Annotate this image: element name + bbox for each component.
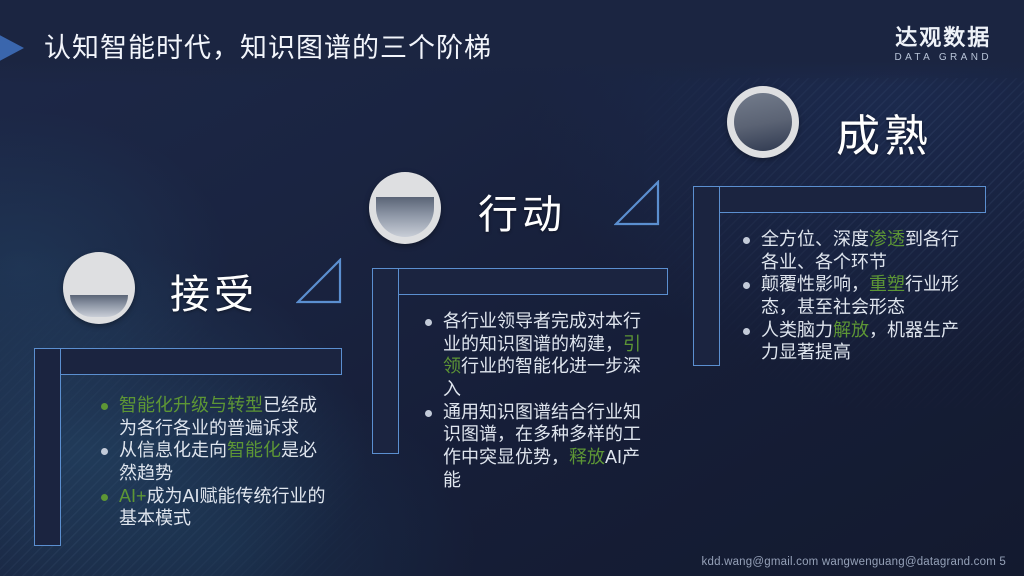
brand-logo-cn: 达观数据 — [894, 26, 992, 49]
bullet-text: 成为AI赋能传统行业的基本模式 — [119, 486, 326, 529]
stage-2-label: 行动 — [478, 182, 566, 240]
footer-contact: kdd.wang@gmail.com wangwenguang@datagran… — [702, 556, 1006, 568]
stage-3-bullet-list: 全方位、深度渗透到各行各业、各个环节颠覆性影响，重塑行业形态，甚至社会形态人类脑… — [742, 228, 970, 364]
stage-1-circle — [63, 252, 135, 324]
bullet-highlight-text: 智能化升级与转型 — [119, 395, 263, 415]
bullet-highlight-text: 解放 — [833, 320, 869, 340]
bullet-item: 各行业领导者完成对本行业的知识图谱的构建，引领行业的智能化进一步深入 — [424, 310, 652, 401]
bullet-item: AI+成为AI赋能传统行业的基本模式 — [100, 485, 332, 530]
stage-1-label: 接受 — [170, 262, 258, 320]
bullet-item: 智能化升级与转型已经成为各行各业的普遍诉求 — [100, 394, 332, 439]
bullet-item: 颠覆性影响，重塑行业形态，甚至社会形态 — [742, 273, 970, 318]
bullet-text: 全方位、深度 — [761, 229, 869, 249]
brand-logo-en: DATA GRAND — [894, 52, 992, 63]
stage-3-circle — [727, 86, 799, 158]
bullet-text: 各行业领导者完成对本行业的知识图谱的构建， — [443, 311, 641, 354]
stage-1-step-top-bar — [34, 348, 342, 375]
stage-1-step-left-bar — [34, 348, 61, 546]
bullet-text: 行业的智能化进一步深入 — [443, 356, 641, 399]
stage-2-step-left-bar — [372, 268, 399, 454]
stage-2-bullet-list: 各行业领导者完成对本行业的知识图谱的构建，引领行业的智能化进一步深入通用知识图谱… — [424, 310, 652, 491]
stage-2-triangle-icon — [614, 180, 660, 226]
bullet-highlight-text: 渗透 — [869, 229, 905, 249]
page-title: 认知智能时代，知识图谱的三个阶梯 — [44, 26, 492, 65]
stage-1-bullet-list: 智能化升级与转型已经成为各行各业的普遍诉求从信息化走向智能化是必然趋势AI+成为… — [100, 394, 332, 530]
stage-2-circle — [369, 172, 441, 244]
bullet-highlight-text: AI+ — [119, 486, 147, 506]
bullet-item: 通用知识图谱结合行业知识图谱，在多种多样的工作中突显优势，释放AI产能 — [424, 401, 652, 492]
bullet-item: 全方位、深度渗透到各行各业、各个环节 — [742, 228, 970, 273]
stage-3-step-left-bar — [693, 186, 720, 366]
bullet-highlight-text: 重塑 — [869, 274, 905, 294]
header-band: 认知智能时代，知识图谱的三个阶梯 达观数据 DATA GRAND — [0, 0, 1024, 85]
stage-1-triangle-icon — [296, 258, 342, 304]
stage-2-step-top-bar — [372, 268, 668, 295]
bullet-text: 人类脑力 — [761, 320, 833, 340]
bullet-highlight-text: 智能化 — [227, 440, 281, 460]
stage-3-step-top-bar — [693, 186, 986, 213]
slide-root: 认知智能时代，知识图谱的三个阶梯 达观数据 DATA GRAND 接受 智能化升… — [0, 0, 1024, 576]
bullet-text: 颠覆性影响， — [761, 274, 869, 294]
bullet-item: 人类脑力解放，机器生产力显著提高 — [742, 319, 970, 364]
brand-logo: 达观数据 DATA GRAND — [894, 26, 992, 63]
title-arrow-icon — [0, 32, 24, 64]
bullet-item: 从信息化走向智能化是必然趋势 — [100, 439, 332, 484]
stage-3-label: 成熟 — [836, 100, 932, 164]
bullet-highlight-text: 释放 — [569, 447, 605, 467]
bullet-text: 从信息化走向 — [119, 440, 227, 460]
